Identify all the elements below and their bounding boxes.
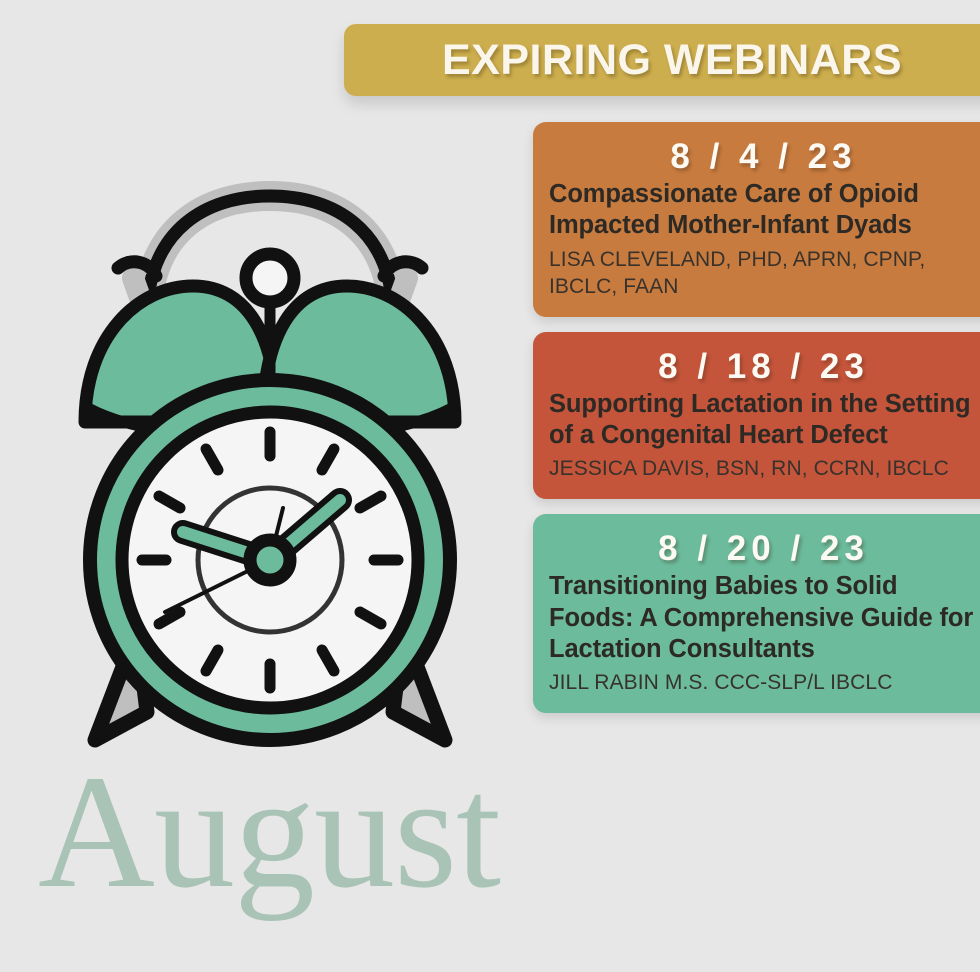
webinar-title: Transitioning Babies to Solid Foods: A C… xyxy=(549,571,978,664)
webinar-presenter: JILL RABIN M.S. CCC-SLP/L IBCLC xyxy=(549,669,978,697)
webinar-presenter: LISA CLEVELAND, PHD, APRN, CPNP, IBCLC, … xyxy=(549,246,978,301)
page-title: EXPIRING WEBINARS xyxy=(442,36,902,85)
alarm-clock-illustration xyxy=(55,160,485,780)
webinar-title: Supporting Lactation in the Setting of a… xyxy=(549,389,978,451)
month-label: August xyxy=(38,752,500,914)
webinar-date: 8 / 20 / 23 xyxy=(549,528,978,569)
webinar-card[interactable]: 8 / 18 / 23 Supporting Lactation in the … xyxy=(533,332,980,499)
webinar-date: 8 / 18 / 23 xyxy=(549,346,978,387)
webinar-presenter: JESSICA DAVIS, BSN, RN, CCRN, IBCLC xyxy=(549,455,978,483)
expiring-webinars-banner: EXPIRING WEBINARS xyxy=(344,24,980,96)
webinar-date: 8 / 4 / 23 xyxy=(549,136,978,177)
webinar-card[interactable]: 8 / 20 / 23 Transitioning Babies to Soli… xyxy=(533,514,980,712)
webinar-card[interactable]: 8 / 4 / 23 Compassionate Care of Opioid … xyxy=(533,122,980,317)
webinar-card-list: 8 / 4 / 23 Compassionate Care of Opioid … xyxy=(533,122,980,728)
webinar-title: Compassionate Care of Opioid Impacted Mo… xyxy=(549,179,978,241)
